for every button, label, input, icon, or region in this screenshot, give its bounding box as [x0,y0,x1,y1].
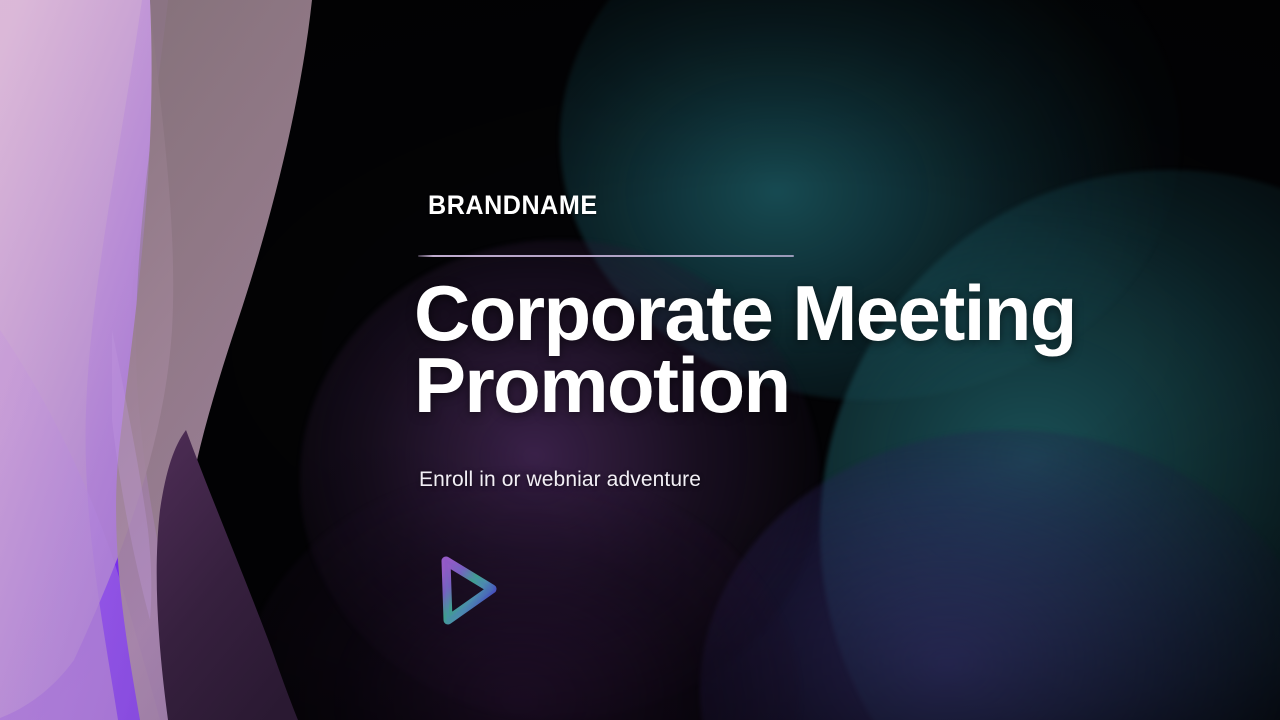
promotional-slide: BRANDNAME Corporate Meeting Promotion En… [0,0,1280,720]
slide-content: BRANDNAME Corporate Meeting Promotion En… [418,0,1218,720]
page-subtitle: Enroll in or webniar adventure [419,468,701,492]
brand-name: BRANDNAME [428,190,598,221]
left-decorative-artwork [0,0,330,720]
page-title-line-1: Corporate Meeting [414,278,1204,350]
page-title: Corporate Meeting Promotion [414,278,1204,422]
page-title-line-2: Promotion [414,350,1204,422]
brand-divider [418,255,794,257]
play-triangle-outline-icon[interactable] [432,554,500,626]
